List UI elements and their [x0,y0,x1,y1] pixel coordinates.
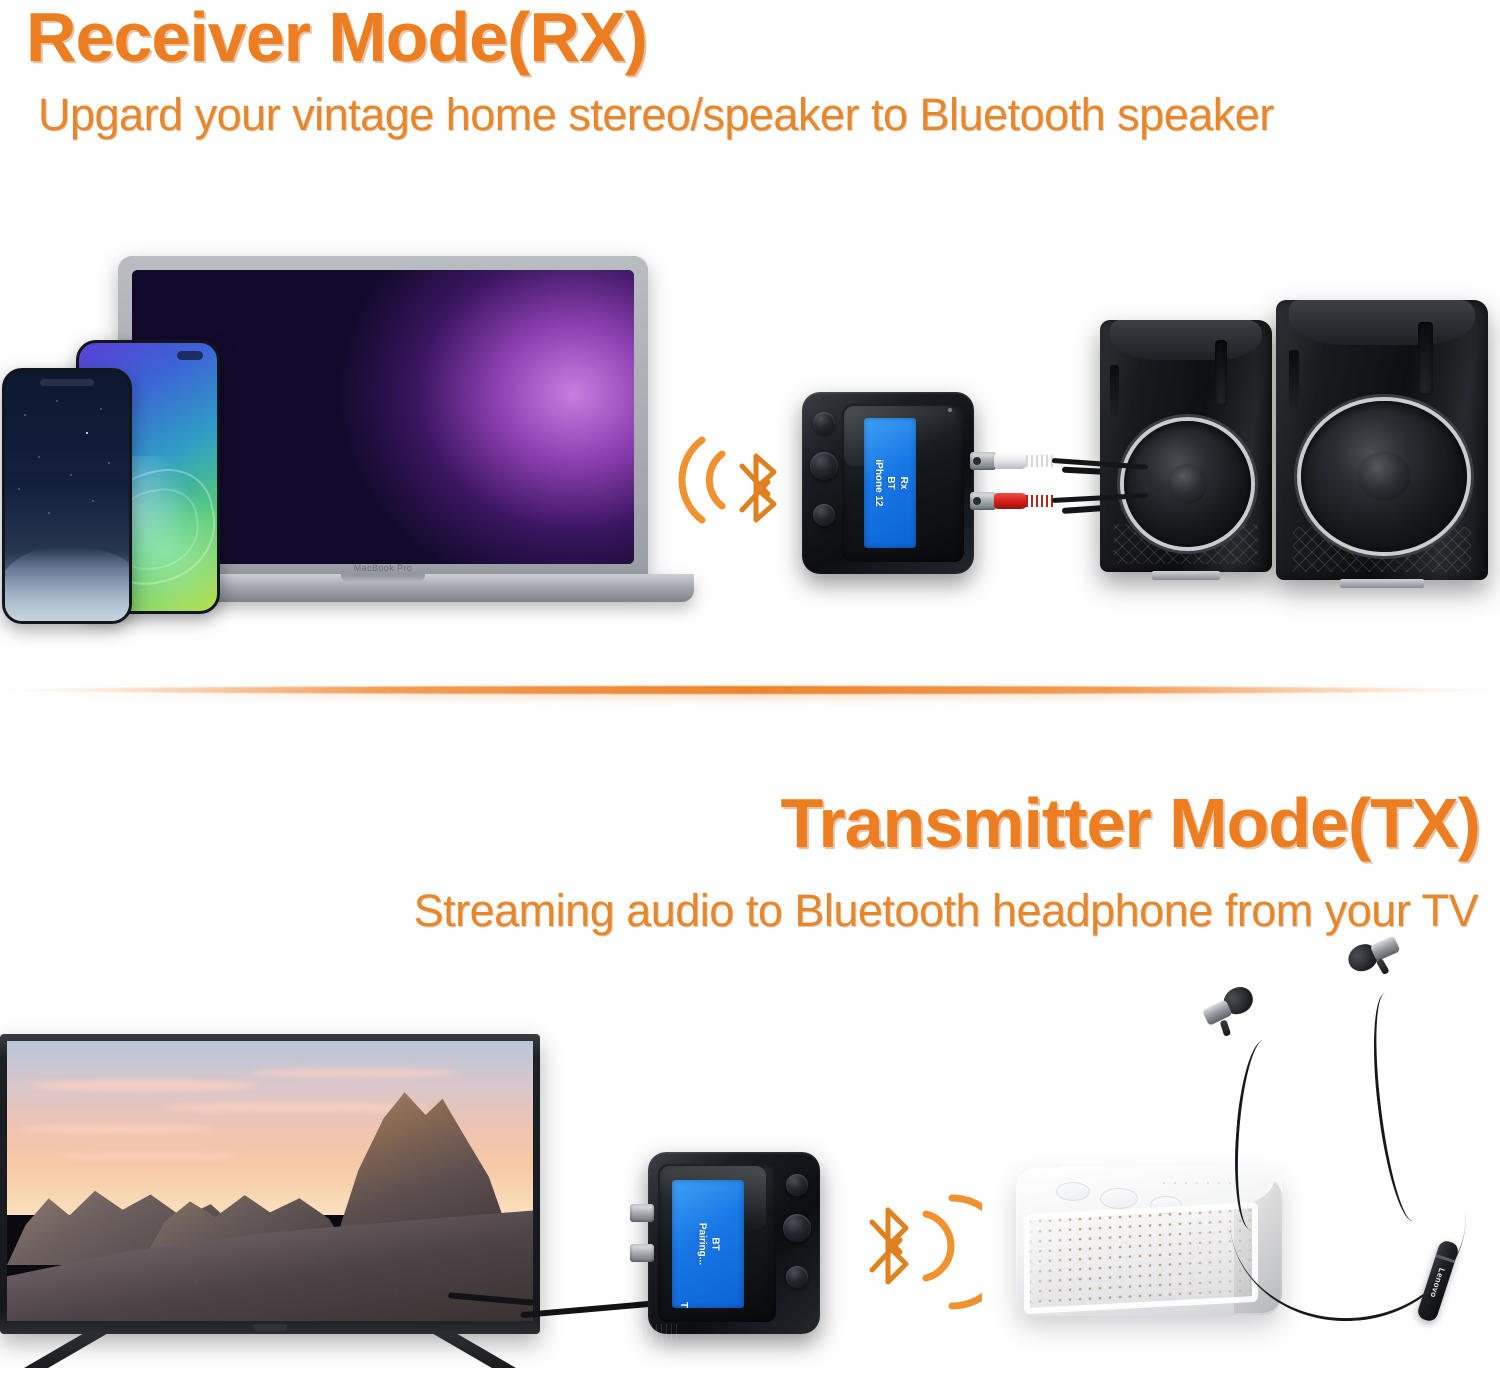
rx-subtitle: Upgard your vintage home stereo/speaker … [38,92,1274,137]
device-button-bottom[interactable] [813,504,835,526]
device-led-indicator [948,408,952,412]
speaker-button-center[interactable] [1100,1188,1138,1209]
rca-jack-red [970,492,996,510]
device-button-top[interactable] [813,412,835,434]
device-button-column [810,412,838,552]
bluetooth-signal-icon-rx [672,420,792,540]
bluetooth-transmitter-device[interactable]: BT Pairing... Tx [648,1152,820,1334]
lcd-bt-label: BT [884,420,897,546]
tv-audio-cable [520,1300,660,1318]
speaker-woofer [1301,401,1466,552]
device-rca-jacks [630,1204,652,1282]
speaker-port-slot [1418,322,1433,395]
bluetooth-receiver-device[interactable]: Rx BT iPhone 12 [802,392,974,574]
speaker-top-bevel [1110,320,1261,360]
studio-speaker-right [1276,300,1488,580]
lcd-status-label: Pairing... [696,1182,709,1306]
lcd-device-name: iPhone 12 [871,420,884,546]
speaker-side-slot [1289,350,1300,406]
earbud-cord-right [1364,990,1435,1224]
rca-strain-relief-red [1026,495,1054,507]
tx-title: Transmitter Mode(TX) [780,788,1480,858]
device-button-bottom[interactable] [786,1266,808,1288]
device-lcd-screen: BT Pairing... Tx [672,1180,744,1308]
speaker-woofer [1124,421,1251,547]
tv-screen [7,1041,533,1321]
product-infographic: Receiver Mode(RX) Upgard your vintage ho… [0,0,1500,1386]
speaker-foot [1152,571,1221,580]
rx-title: Receiver Mode(RX) [26,2,647,72]
speaker-side-slot [1110,365,1119,415]
lcd-mode-label: Rx [896,420,909,546]
speaker-foot [1340,579,1425,588]
smartphone-galaxy-s8 [2,368,132,624]
studio-speaker-left [1100,320,1272,572]
tv-cloud [165,1103,428,1113]
pod-ring-detail [1435,1254,1455,1263]
laptop-lid-notch [341,574,425,583]
speaker-top-bevel [1289,300,1476,345]
speaker-button-left[interactable] [1056,1182,1090,1201]
rca-boot-red [994,493,1028,509]
device-button-top[interactable] [786,1174,808,1196]
device-button-column [782,1174,812,1314]
earbud-barrel [1370,935,1401,961]
device-button-middle[interactable] [810,452,838,480]
tv-stand-right [430,1332,516,1368]
device-lcd-screen: Rx BT iPhone 12 [864,418,916,548]
tv-brand-logo [253,1324,287,1331]
rca-jack-lower [630,1244,654,1262]
speaker-port-slot [1215,340,1227,406]
phone-camera-notch [177,351,203,360]
device-audio-plug [636,1324,680,1340]
lcd-mode-label: Tx [678,1302,689,1308]
tv-bezel [0,1034,540,1334]
rca-boot-white [994,453,1028,469]
tx-subtitle: Streaming audio to Bluetooth headphone f… [414,888,1478,933]
phone-wallpaper-ridge [2,546,132,621]
bluetooth-earbuds: Lenovo [1196,948,1500,1330]
rca-jack-white [970,452,996,470]
lcd-text-group: Rx BT iPhone 12 [871,420,909,546]
tv-scree-texture [7,1243,533,1321]
earbud-stem [1376,958,1390,975]
lcd-bt-label: BT [708,1182,721,1306]
device-button-middle[interactable] [783,1214,811,1242]
television [0,1034,540,1370]
speaker-dust-cap [1167,464,1208,504]
rca-jack-upper [630,1204,654,1222]
earbud-stem [1220,1019,1232,1036]
tv-stand-left [24,1332,110,1368]
speaker-dust-cap [1358,452,1411,500]
section-divider [0,686,1500,694]
rca-strain-relief-white [1026,455,1054,467]
earbuds-brand-label: Lenovo [1428,1266,1446,1298]
lcd-text-group: BT Pairing... [696,1182,721,1306]
bluetooth-signal-icon-tx [852,1188,982,1320]
